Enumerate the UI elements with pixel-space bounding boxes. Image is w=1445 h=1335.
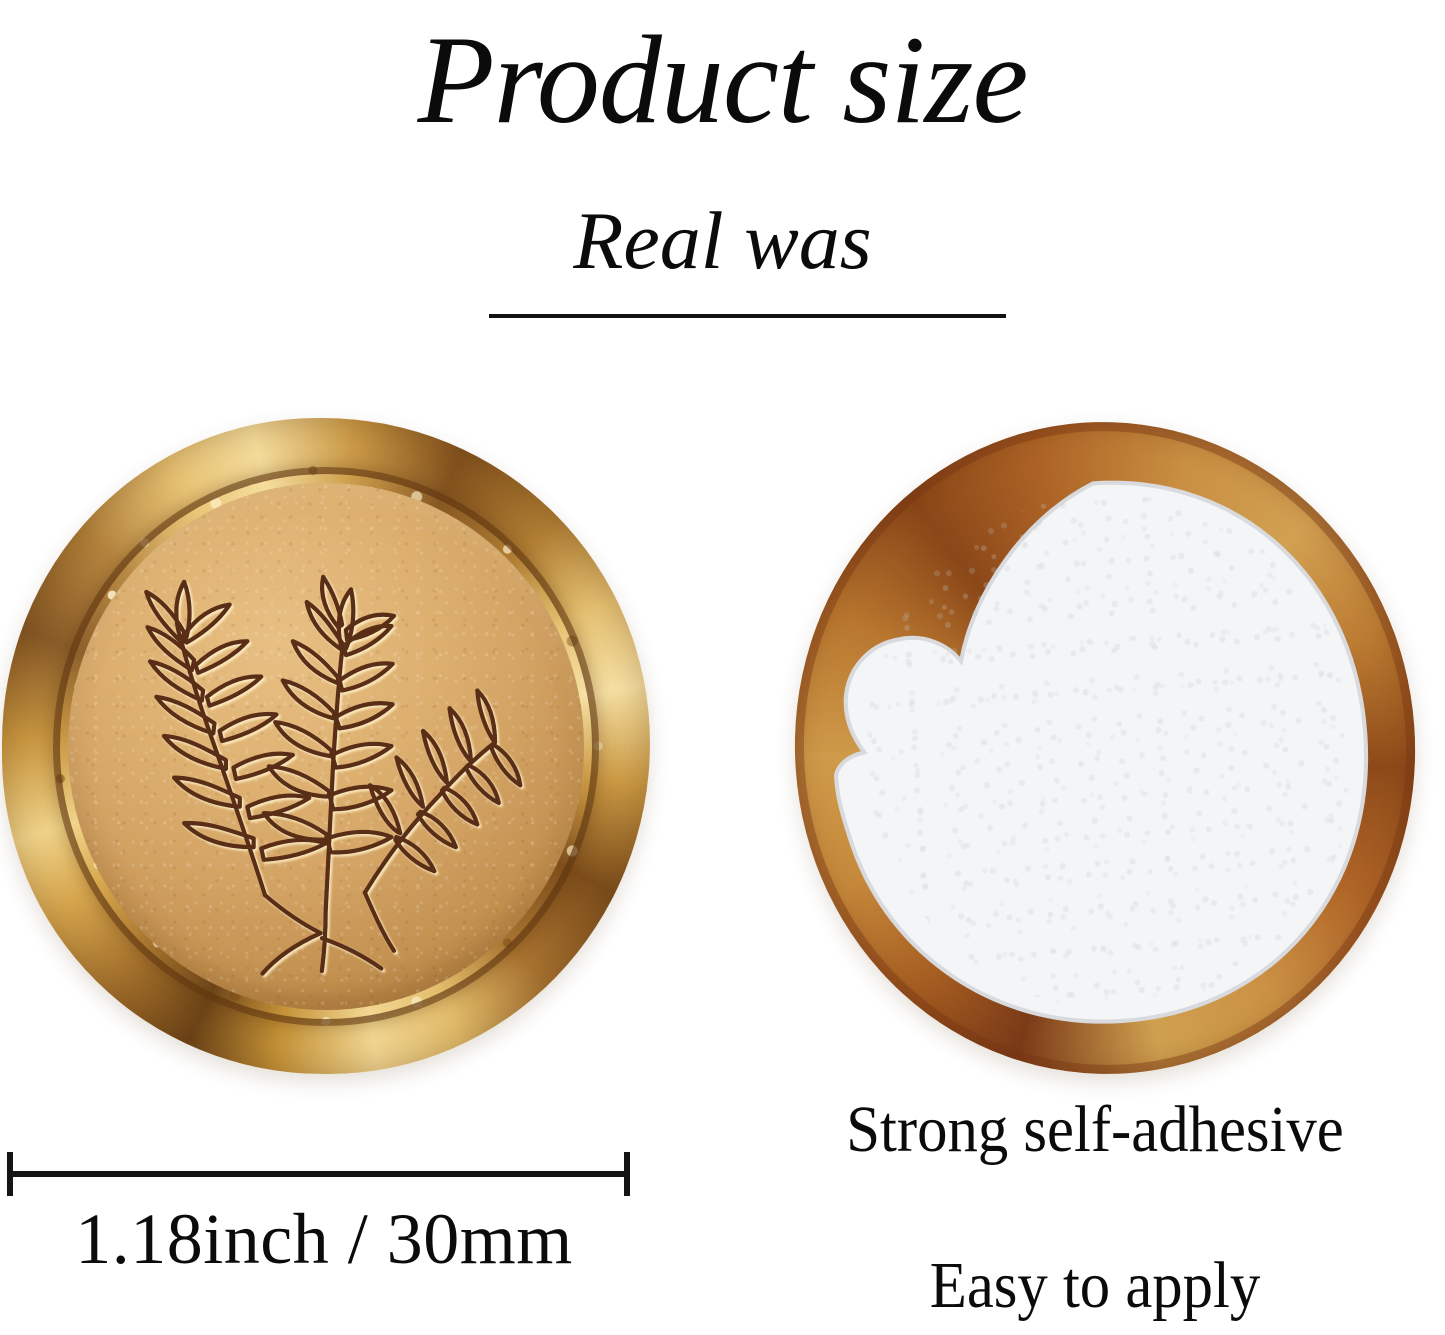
- subtitle: Real was: [573, 200, 871, 282]
- wax-seal-back-image: [773, 401, 1437, 1095]
- page-title: Product size: [0, 18, 1445, 144]
- rosemary-sprig-engraving-icon: [73, 487, 578, 1005]
- subtitle-underline: [489, 314, 1006, 318]
- dimension-line: [7, 1152, 630, 1196]
- dimension-label: 1.18inch / 30mm: [0, 1203, 648, 1275]
- dimension-cap-right: [624, 1152, 630, 1196]
- adhesive-sticker-shape: [796, 453, 1404, 1052]
- adhesive-sticker: [796, 453, 1404, 1052]
- sprig-centre: [264, 577, 394, 911]
- sprig-stems: [263, 893, 394, 974]
- dimension-bar: [7, 1171, 630, 1177]
- wax-seal-front-image: [2, 418, 650, 1074]
- feature-strong-self-adhesive: Strong self-adhesive: [773, 1097, 1417, 1163]
- dimension-cap-left: [7, 1152, 13, 1196]
- sprig-left: [147, 582, 326, 895]
- subtitle-container: Real was: [0, 200, 1445, 282]
- feature-easy-to-apply: Easy to apply: [773, 1253, 1417, 1319]
